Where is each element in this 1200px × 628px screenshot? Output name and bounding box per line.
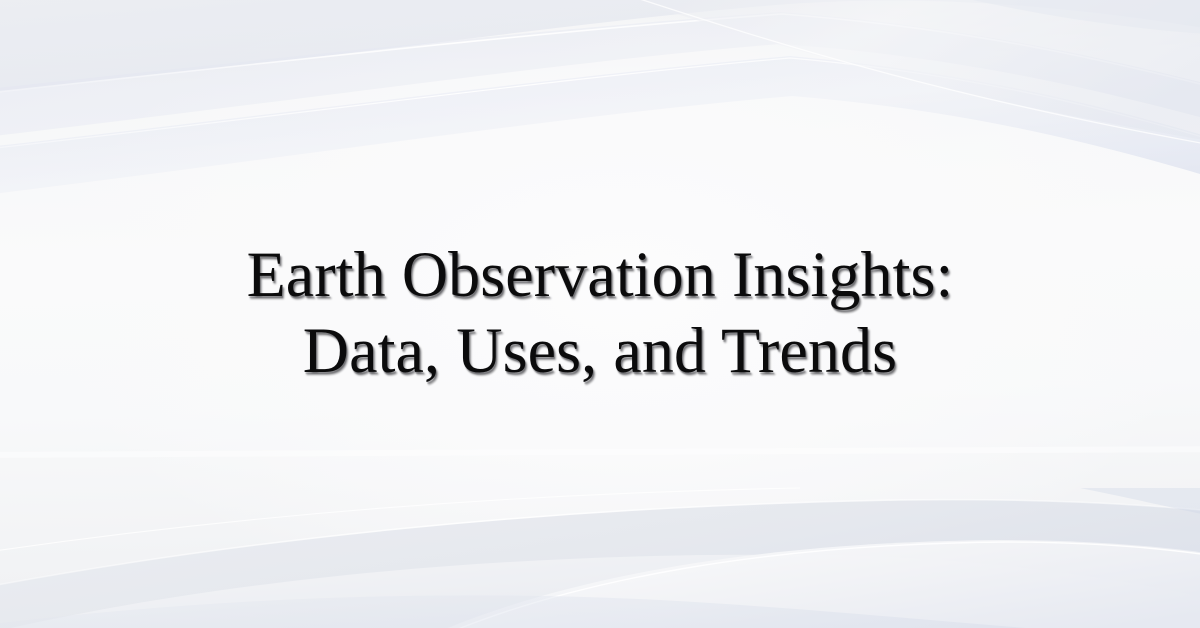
page-title: Earth Observation Insights: Data, Uses, … <box>186 238 1013 389</box>
title-slide: Earth Observation Insights: Data, Uses, … <box>0 0 1200 628</box>
title-container: Earth Observation Insights: Data, Uses, … <box>0 0 1200 628</box>
